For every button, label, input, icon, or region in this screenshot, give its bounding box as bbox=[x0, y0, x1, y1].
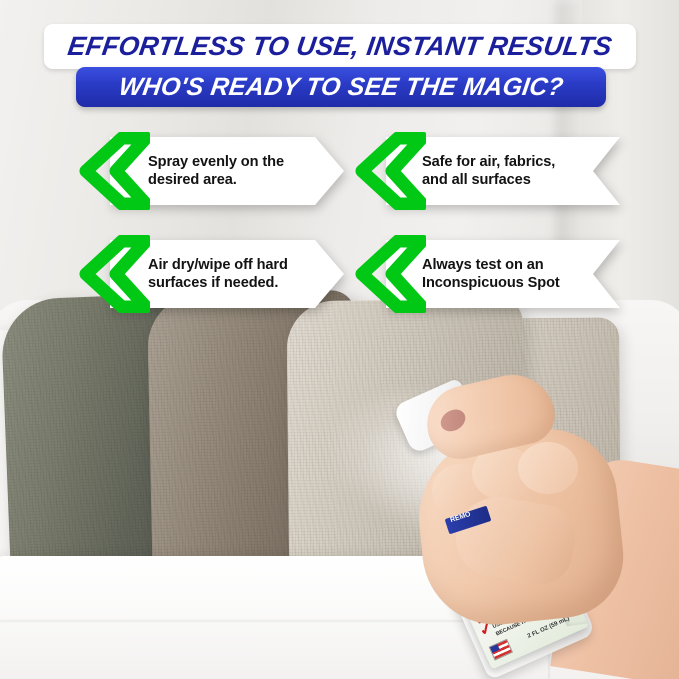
headline-primary-text: EFFORTLESS TO USE, INSTANT RESULTS bbox=[66, 31, 614, 62]
green-chevron-icon bbox=[76, 132, 150, 210]
usa-flag-icon bbox=[489, 639, 513, 661]
feature-banner-spray-evenly: Spray evenly on the desired area. bbox=[76, 132, 344, 210]
headline-secondary-text: WHO'S READY TO SEE THE MAGIC? bbox=[117, 73, 565, 102]
feature-line-2: surfaces if needed. bbox=[148, 275, 330, 293]
feature-line-2: desired area. bbox=[148, 172, 330, 190]
feature-line-1: Air dry/wipe off hard bbox=[148, 257, 330, 275]
feature-text: Spray evenly on the desired area. bbox=[148, 145, 330, 199]
feature-banner-test-spot: Always test on an Inconspicuous Spot bbox=[352, 235, 620, 313]
headline-secondary: WHO'S READY TO SEE THE MAGIC? bbox=[76, 67, 606, 107]
knuckle bbox=[518, 442, 578, 494]
headline-primary: EFFORTLESS TO USE, INSTANT RESULTS bbox=[44, 24, 636, 69]
feature-line-1: Safe for air, fabrics, bbox=[422, 154, 602, 172]
feature-text: Safe for air, fabrics, and all surfaces bbox=[422, 145, 602, 199]
product-infographic: REMO UNSCE ODOR REMOVER ✓ USED IN HOSPIT… bbox=[0, 0, 679, 679]
green-chevron-icon bbox=[352, 132, 426, 210]
feature-line-2: and all surfaces bbox=[422, 172, 602, 190]
feature-line-2: Inconspicuous Spot bbox=[422, 275, 602, 293]
fingernail bbox=[437, 405, 470, 436]
feature-line-1: Always test on an bbox=[422, 257, 602, 275]
feature-banner-air-dry-wipe: Air dry/wipe off hard surfaces if needed… bbox=[76, 235, 344, 313]
green-chevron-icon bbox=[76, 235, 150, 313]
feature-text: Always test on an Inconspicuous Spot bbox=[422, 248, 602, 302]
feature-banner-safe-for-all: Safe for air, fabrics, and all surfaces bbox=[352, 132, 620, 210]
hand-with-bottle: REMO UNSCE ODOR REMOVER ✓ USED IN HOSPIT… bbox=[398, 372, 679, 679]
green-chevron-icon bbox=[352, 235, 426, 313]
feature-text: Air dry/wipe off hard surfaces if needed… bbox=[148, 248, 330, 302]
feature-line-1: Spray evenly on the bbox=[148, 154, 330, 172]
